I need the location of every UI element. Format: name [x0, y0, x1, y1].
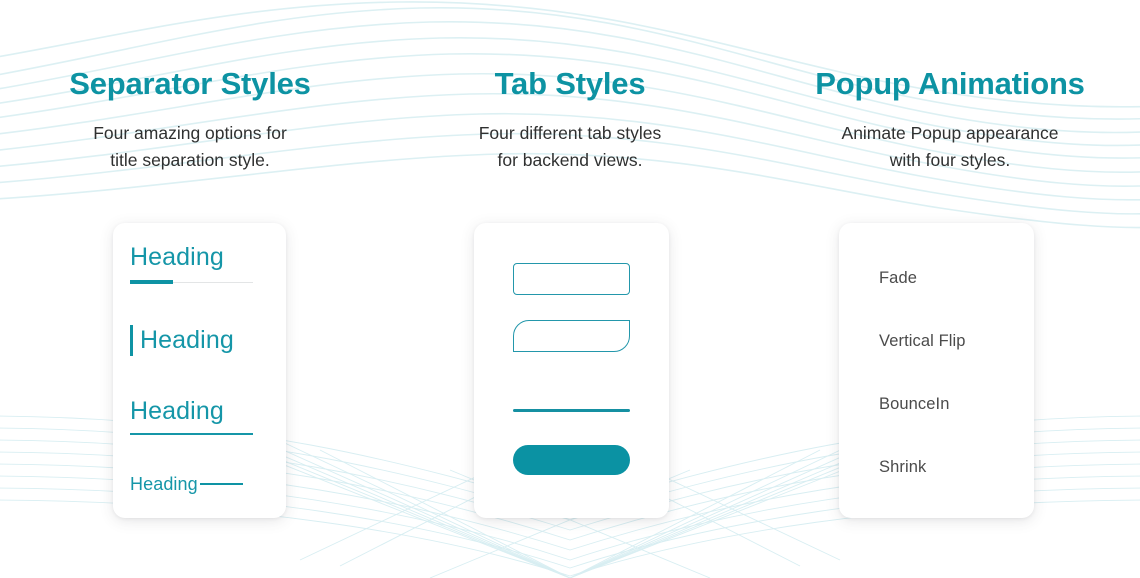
separator-heading-label: Heading — [130, 399, 253, 424]
popup-animation-list: Fade Vertical Flip BounceIn Shrink — [839, 223, 1034, 518]
tab-preview-list — [474, 223, 669, 518]
popup-animation-option-vertical-flip[interactable]: Vertical Flip — [879, 333, 966, 350]
page-title-tab-styles: Tab Styles — [495, 68, 646, 99]
popup-animation-option-fade[interactable]: Fade — [879, 270, 917, 287]
separator-vertical-bar — [130, 325, 133, 356]
separator-rule-accent-segment — [130, 280, 173, 284]
feature-showcase-banner: Separator Styles Four amazing options fo… — [0, 0, 1140, 578]
separator-heading-label: Heading — [130, 475, 198, 493]
card-popup-animations[interactable]: Fade Vertical Flip BounceIn Shrink — [839, 223, 1034, 518]
popup-animation-option-shrink[interactable]: Shrink — [879, 459, 926, 476]
separator-heading-label: Heading — [140, 325, 234, 356]
separator-option-left-vertical-bar[interactable]: Heading — [130, 325, 234, 356]
description-line: title separation style. — [93, 147, 287, 174]
separator-option-underline-split[interactable]: Heading — [130, 245, 253, 284]
popup-animation-option-bouncein[interactable]: BounceIn — [879, 396, 950, 413]
separator-rule-full-underline — [130, 433, 253, 435]
description-line: Animate Popup appearance — [842, 120, 1059, 147]
page-title-separator-styles: Separator Styles — [69, 68, 310, 99]
description-line: Four amazing options for — [93, 120, 287, 147]
description-popup-animations: Animate Popup appearance with four style… — [842, 120, 1059, 174]
description-line: Four different tab styles — [479, 120, 662, 147]
separator-preview-list: Heading Heading Heading Heading — [113, 223, 286, 518]
separator-option-full-underline[interactable]: Heading — [130, 399, 253, 435]
description-line: with four styles. — [842, 147, 1059, 174]
description-separator-styles: Four amazing options for title separatio… — [93, 120, 287, 174]
description-tab-styles: Four different tab styles for backend vi… — [479, 120, 662, 174]
separator-heading-label: Heading — [130, 245, 253, 270]
separator-rule-trailing-line — [200, 483, 243, 485]
tab-option-outlined-diagonal-rounded[interactable] — [513, 320, 630, 352]
tab-option-filled-pill[interactable] — [513, 445, 630, 475]
description-line: for backend views. — [479, 147, 662, 174]
separator-option-inline-trailing-line[interactable]: Heading — [130, 475, 243, 493]
separator-rule-split — [130, 280, 253, 284]
tab-option-underline-bar[interactable] — [513, 409, 630, 412]
card-separator-styles[interactable]: Heading Heading Heading Heading — [113, 223, 286, 518]
card-tab-styles[interactable] — [474, 223, 669, 518]
tab-option-outlined-rectangle[interactable] — [513, 263, 630, 295]
page-title-popup-animations: Popup Animations — [815, 68, 1084, 99]
